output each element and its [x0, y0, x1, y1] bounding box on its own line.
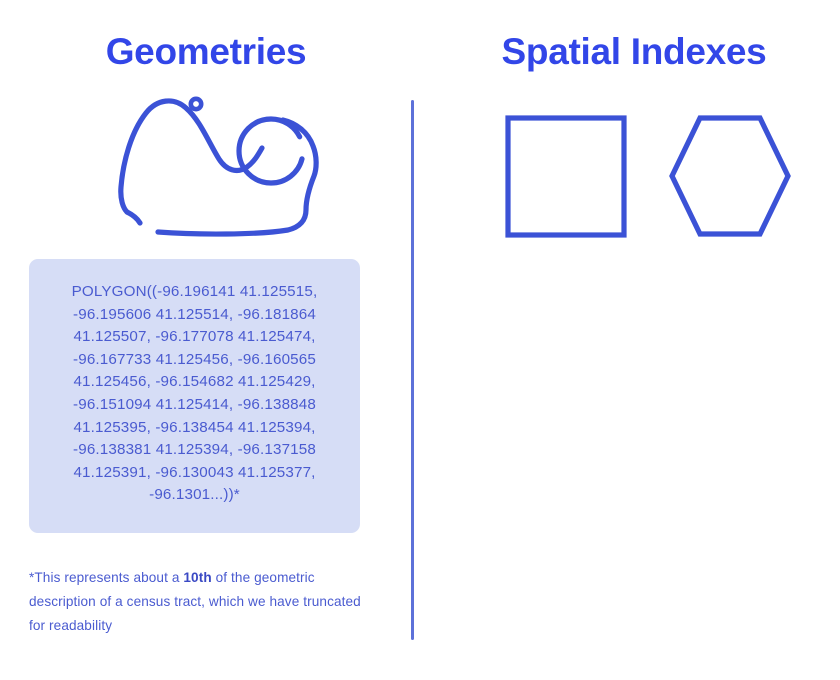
comparison-figure: Geometries POLYGON((-96.196141 41.125515…: [0, 0, 840, 680]
index-shapes: [428, 100, 840, 250]
geometry-footnote: *This represents about a 10th of the geo…: [29, 566, 369, 638]
geometry-illustration: [0, 88, 412, 248]
wkt-geometry-card: POLYGON((-96.196141 41.125515, -96.19560…: [29, 259, 360, 533]
vertical-divider: [411, 100, 414, 640]
hexagon-shape: [672, 118, 788, 234]
wkt-geometry-text: POLYGON((-96.196141 41.125515, -96.19560…: [47, 281, 342, 507]
footnote-emphasis: 10th: [183, 570, 211, 585]
square-shape: [508, 118, 624, 235]
blob-polygon-illustration: [0, 88, 412, 248]
spatial-indexes-title: Spatial Indexes: [428, 30, 840, 74]
footnote-part-1: *This represents about a: [29, 570, 183, 585]
geometries-title: Geometries: [0, 30, 412, 74]
spatial-index-illustration: [428, 100, 840, 250]
